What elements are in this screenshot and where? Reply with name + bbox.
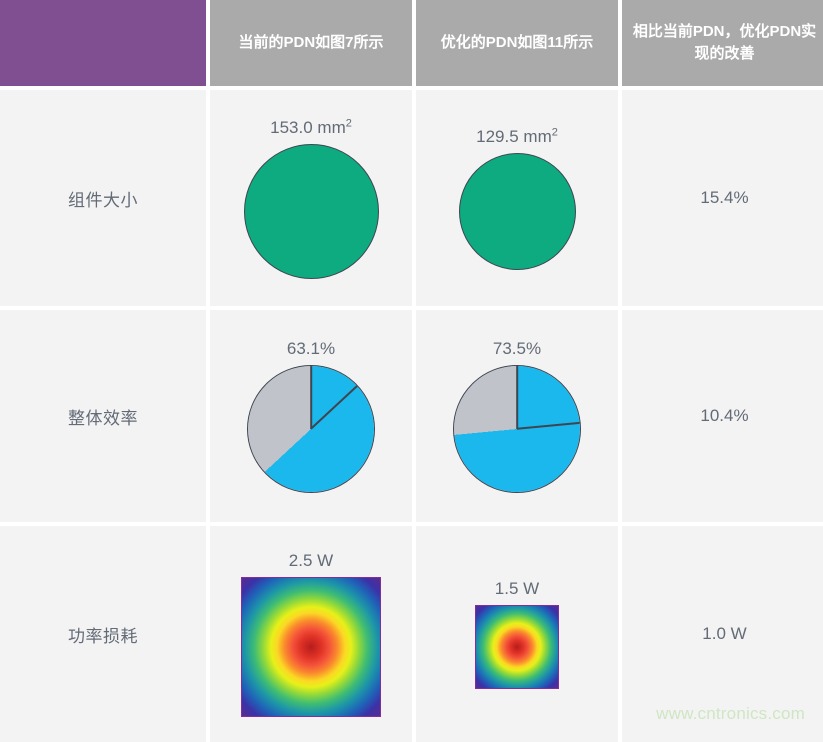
figure-power-current: 2.5 W — [241, 551, 381, 717]
row-label-power-loss: 功率损耗 — [68, 622, 138, 647]
figure-caption-power-current: 2.5 W — [289, 551, 333, 571]
header-column-improvement: 相比当前PDN，优化PDN实现的改善 — [622, 0, 823, 86]
comparison-grid: 当前的PDN如图7所示 优化的PDN如图11所示 相比当前PDN，优化PDN实现… — [0, 0, 823, 734]
header-column-optimized: 优化的PDN如图11所示 — [416, 0, 618, 86]
figure-caption-size-optimized-exponent: 2 — [552, 126, 558, 138]
figure-caption-size-current: 153.0 mm2 — [270, 118, 352, 138]
figure-efficiency-current: 63.1% — [247, 339, 375, 493]
figure-caption-size-current-text: 153.0 mm — [270, 118, 346, 137]
header-column-improvement-label: 相比当前PDN，优化PDN实现的改善 — [632, 21, 817, 65]
pie-chart-efficiency-current — [247, 365, 375, 493]
pdn-comparison-table: 当前的PDN如图7所示 优化的PDN如图11所示 相比当前PDN，优化PDN实现… — [0, 0, 823, 734]
pie-separator-start — [516, 366, 518, 429]
table-row: 整体效率 — [0, 310, 206, 522]
table-row: 功率损耗 — [0, 526, 206, 742]
figure-size-optimized: 129.5 mm2 — [459, 127, 576, 270]
cell-power-improvement: 1.0 W — [622, 526, 823, 742]
figure-power-optimized: 1.5 W — [475, 579, 559, 689]
header-column-optimized-label: 优化的PDN如图11所示 — [441, 32, 594, 54]
row-label-efficiency: 整体效率 — [68, 404, 138, 429]
figure-caption-power-optimized: 1.5 W — [495, 579, 539, 599]
table-row: 组件大小 — [0, 90, 206, 306]
cell-size-improvement: 15.4% — [622, 90, 823, 306]
cell-efficiency-current: 63.1% — [210, 310, 412, 522]
value-power-improvement: 1.0 W — [702, 624, 746, 644]
cell-size-current: 153.0 mm2 — [210, 90, 412, 306]
heatmap-power-current — [241, 577, 381, 717]
value-size-improvement: 15.4% — [700, 188, 748, 208]
row-label-size: 组件大小 — [68, 186, 138, 211]
pie-separator-start — [310, 366, 312, 429]
figure-caption-efficiency-current: 63.1% — [287, 339, 335, 359]
figure-caption-efficiency-optimized: 73.5% — [493, 339, 541, 359]
figure-efficiency-optimized: 73.5% — [453, 339, 581, 493]
figure-caption-size-optimized: 129.5 mm2 — [476, 127, 558, 147]
figure-caption-size-current-exponent: 2 — [346, 117, 352, 129]
header-column-current-label: 当前的PDN如图7所示 — [238, 32, 383, 54]
cell-efficiency-improvement: 10.4% — [622, 310, 823, 522]
area-circle-optimized — [459, 153, 576, 270]
heatmap-power-optimized — [475, 605, 559, 689]
area-circle-current — [244, 144, 379, 279]
cell-efficiency-optimized: 73.5% — [416, 310, 618, 522]
figure-caption-size-optimized-text: 129.5 mm — [476, 127, 552, 146]
header-column-current: 当前的PDN如图7所示 — [210, 0, 412, 86]
cell-size-optimized: 129.5 mm2 — [416, 90, 618, 306]
cell-power-optimized: 1.5 W — [416, 526, 618, 742]
figure-size-current: 153.0 mm2 — [244, 118, 379, 279]
pie-chart-efficiency-optimized — [453, 365, 581, 493]
header-corner-cell — [0, 0, 206, 86]
value-efficiency-improvement: 10.4% — [700, 406, 748, 426]
cell-power-current: 2.5 W — [210, 526, 412, 742]
